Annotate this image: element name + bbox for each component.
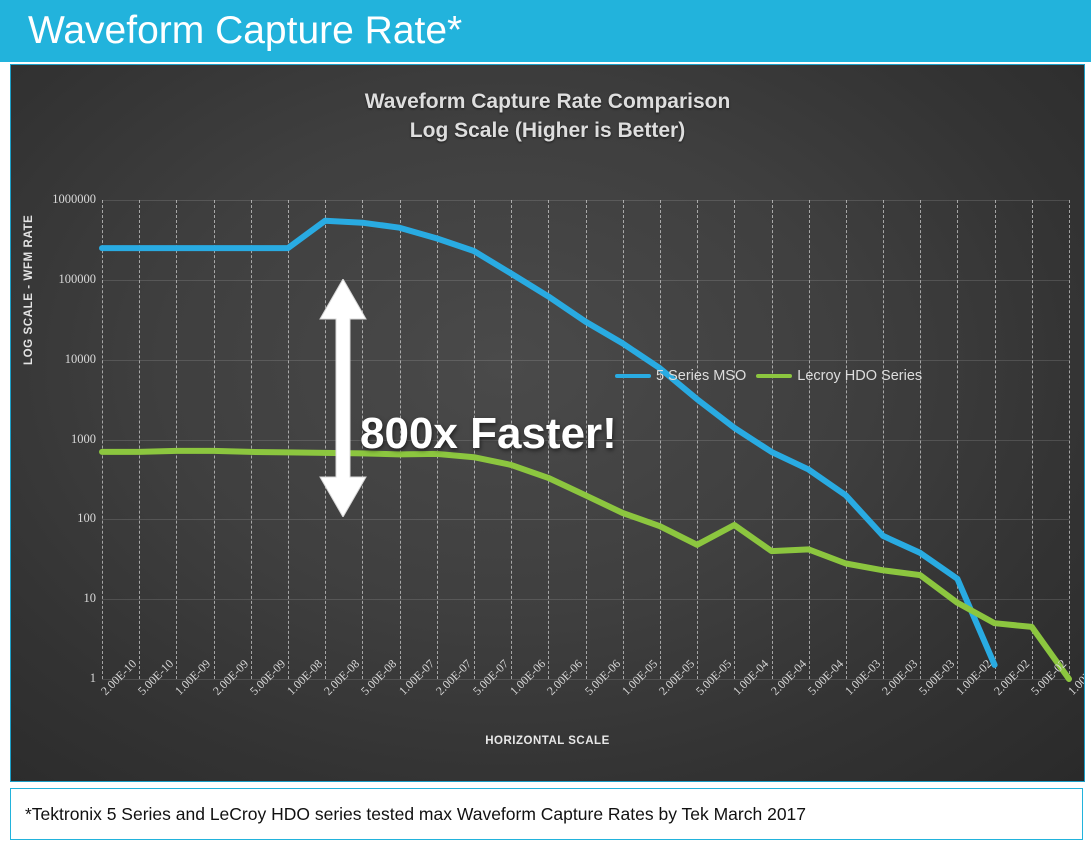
footnote-box: *Tektronix 5 Series and LeCroy HDO serie… <box>10 788 1083 840</box>
chart-title: Waveform Capture Rate Comparison Log Sca… <box>11 87 1084 145</box>
legend-swatch-green-icon <box>756 374 792 378</box>
annotation-label: 800x Faster! <box>360 409 617 459</box>
legend-label-0: 5 Series MSO <box>656 368 746 384</box>
series-line-1 <box>102 451 1069 679</box>
legend-item-1[interactable]: Lecroy HDO Series <box>756 368 922 384</box>
y-tick-label-6: 1 <box>16 671 96 686</box>
slide-root: Waveform Capture Rate* Waveform Capture … <box>0 0 1091 846</box>
gridline-v-26 <box>1069 200 1070 679</box>
legend-label-1: Lecroy HDO Series <box>797 368 922 384</box>
y-tick-label-3: 1000 <box>16 432 96 447</box>
chart-legend: 5 Series MSO Lecroy HDO Series <box>615 368 922 384</box>
legend-item-0[interactable]: 5 Series MSO <box>615 368 746 384</box>
chart-title-line-2: Log Scale (Higher is Better) <box>11 116 1084 145</box>
y-tick-label-5: 10 <box>16 591 96 606</box>
y-axis-title: LOG SCALE - WFM RATE <box>23 215 35 365</box>
double-headed-vertical-arrow-icon <box>317 279 369 517</box>
y-tick-label-2: 10000 <box>16 352 96 367</box>
x-axis-title: HORIZONTAL SCALE <box>11 735 1084 747</box>
footnote-text: *Tektronix 5 Series and LeCroy HDO serie… <box>11 804 806 825</box>
chart-panel: Waveform Capture Rate Comparison Log Sca… <box>10 64 1085 782</box>
y-tick-label-4: 100 <box>16 511 96 526</box>
chart-title-line-1: Waveform Capture Rate Comparison <box>11 87 1084 116</box>
page-title: Waveform Capture Rate* <box>28 8 462 54</box>
y-tick-label-0: 1000000 <box>16 192 96 207</box>
legend-swatch-blue-icon <box>615 374 651 378</box>
y-tick-label-1: 100000 <box>16 272 96 287</box>
header-bar: Waveform Capture Rate* <box>0 0 1091 62</box>
